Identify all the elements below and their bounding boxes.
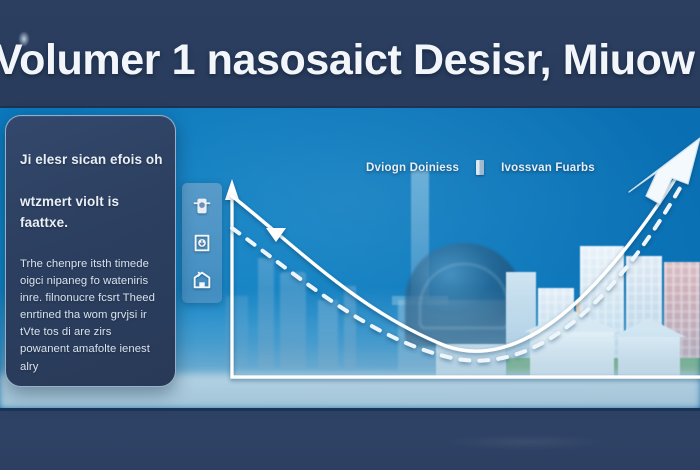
page-title: Volumer 1 nasosaict Desisr, Miuow Rater <box>0 29 700 91</box>
infographic-canvas: Dviogn Doiniess Ivossvan Fuarbs <box>0 0 700 470</box>
chart-line-solid <box>232 156 690 351</box>
chart-legend: Dviogn Doiniess Ivossvan Fuarbs <box>366 160 595 175</box>
info-panel-heading: Ji elesr sican efois oh wtzmert violt is… <box>20 150 163 234</box>
settings-gear-icon[interactable] <box>188 192 216 220</box>
info-panel: Ji elesr sican efois oh wtzmert violt is… <box>5 115 176 387</box>
legend-label: Ivossvan Fuarbs <box>501 162 595 174</box>
page-title-text: Volumer 1 nasosaict Desisr, Miuow Rater <box>0 36 700 85</box>
chart-line-dashed <box>232 188 680 361</box>
chart-arrow-cursor <box>629 138 700 204</box>
info-panel-heading-line2: wtzmert violt is faattxe. <box>20 194 119 230</box>
info-panel-paragraph-1: Trhe chenpre itsth timede oigci nipaneg … <box>20 256 163 376</box>
footer-band <box>0 408 700 470</box>
info-panel-heading-line1: Ji elesr sican efois oh <box>20 152 163 167</box>
legend-label: Dviogn Doiniess <box>366 162 459 174</box>
footer-smudge <box>430 432 620 452</box>
legend-item-0[interactable]: Dviogn Doiniess <box>366 162 459 174</box>
info-panel-body: Trhe chenpre itsth timede oigci nipaneg … <box>20 256 163 387</box>
heading-fade-blob <box>20 173 35 188</box>
export-upload-icon[interactable] <box>188 266 216 294</box>
legend-marker-icon <box>476 160 484 175</box>
legend-item-1[interactable]: Ivossvan Fuarbs <box>501 162 595 174</box>
chart-toolbar[interactable] <box>182 183 222 303</box>
download-icon[interactable] <box>188 229 216 257</box>
